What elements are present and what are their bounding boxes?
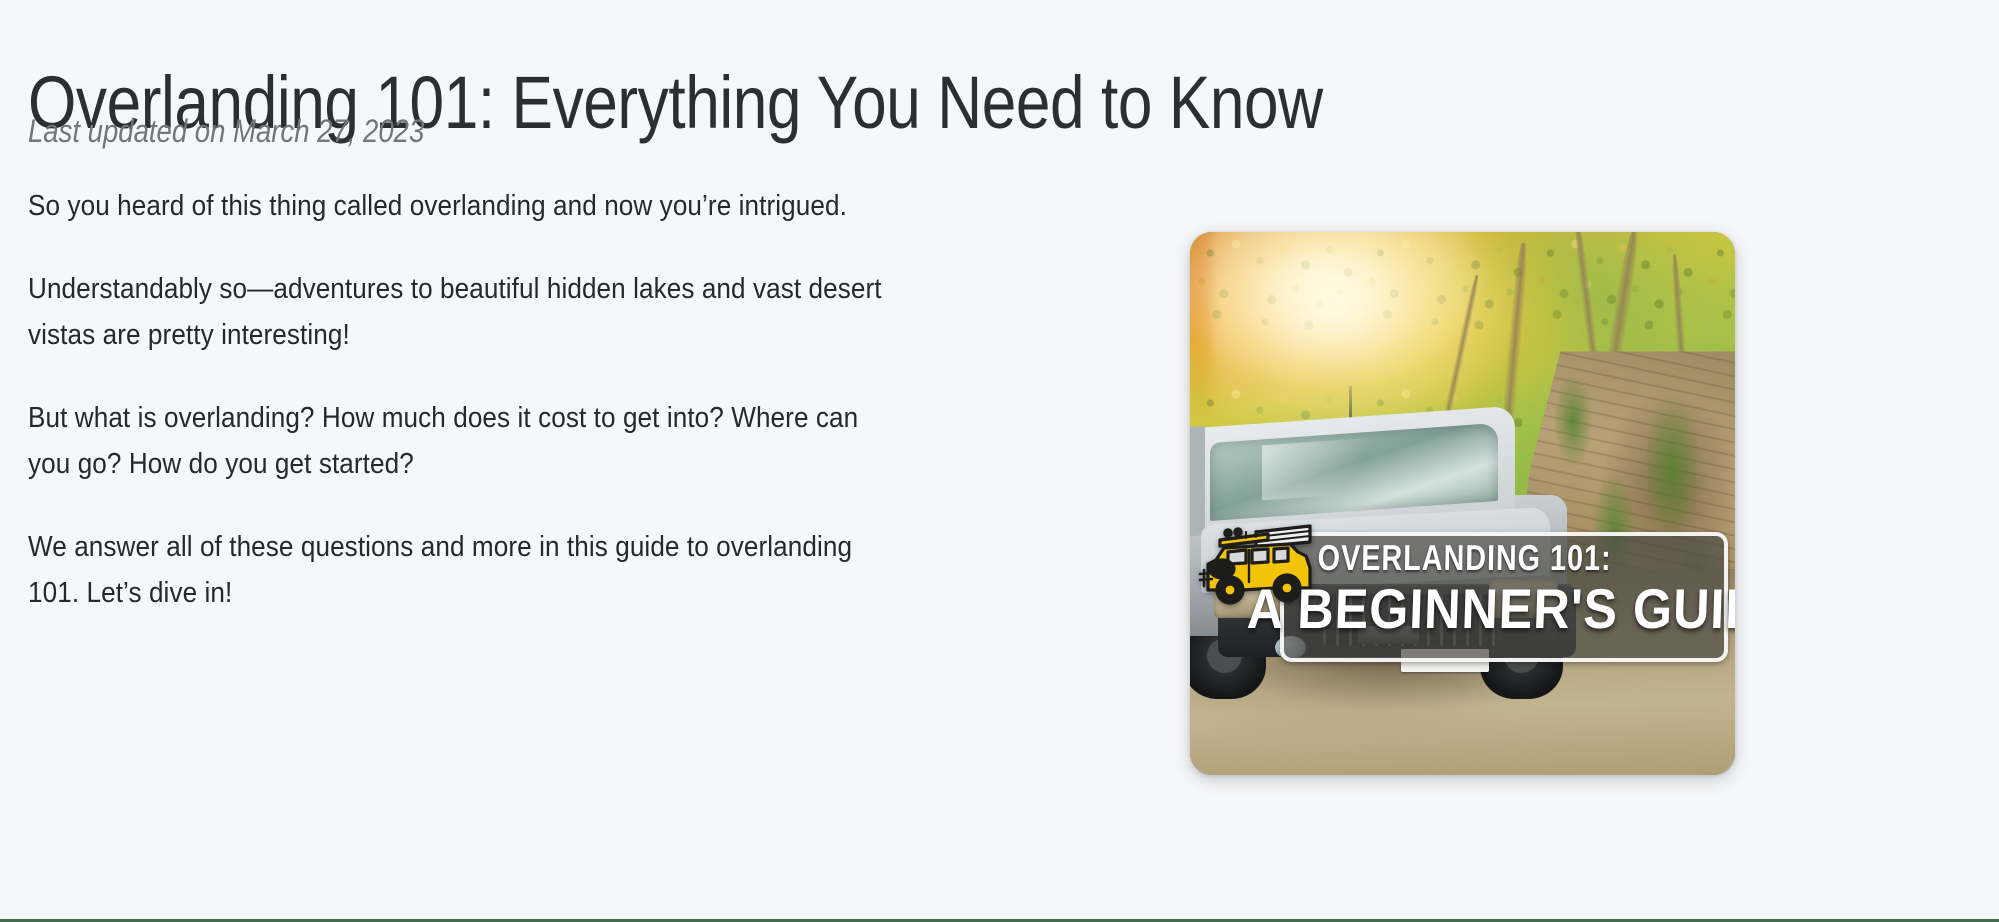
paragraph: Understandably so—adventures to beautifu… [28,266,906,358]
hanging-vine [1642,395,1702,545]
paragraph: We answer all of these questions and mor… [28,524,906,616]
paragraph: So you heard of this thing called overla… [28,183,906,229]
article-hero-image: OVERLANDING 101: A BEGINNER'S GUIDE [1190,232,1735,775]
paragraph: But what is overlanding? How much does i… [28,395,906,487]
article-page: Overlanding 101: Everything You Need to … [0,0,1999,922]
banner-line-2: A BEGINNER'S GUIDE [1246,580,1716,638]
last-updated-text: Last updated on March 27, 2023 [28,108,424,154]
offroad-truck-photo: OVERLANDING 101: A BEGINNER'S GUIDE [1190,232,1735,775]
banner-line-1: OVERLANDING 101: [1317,538,1638,578]
article-body: So you heard of this thing called overla… [28,183,908,616]
